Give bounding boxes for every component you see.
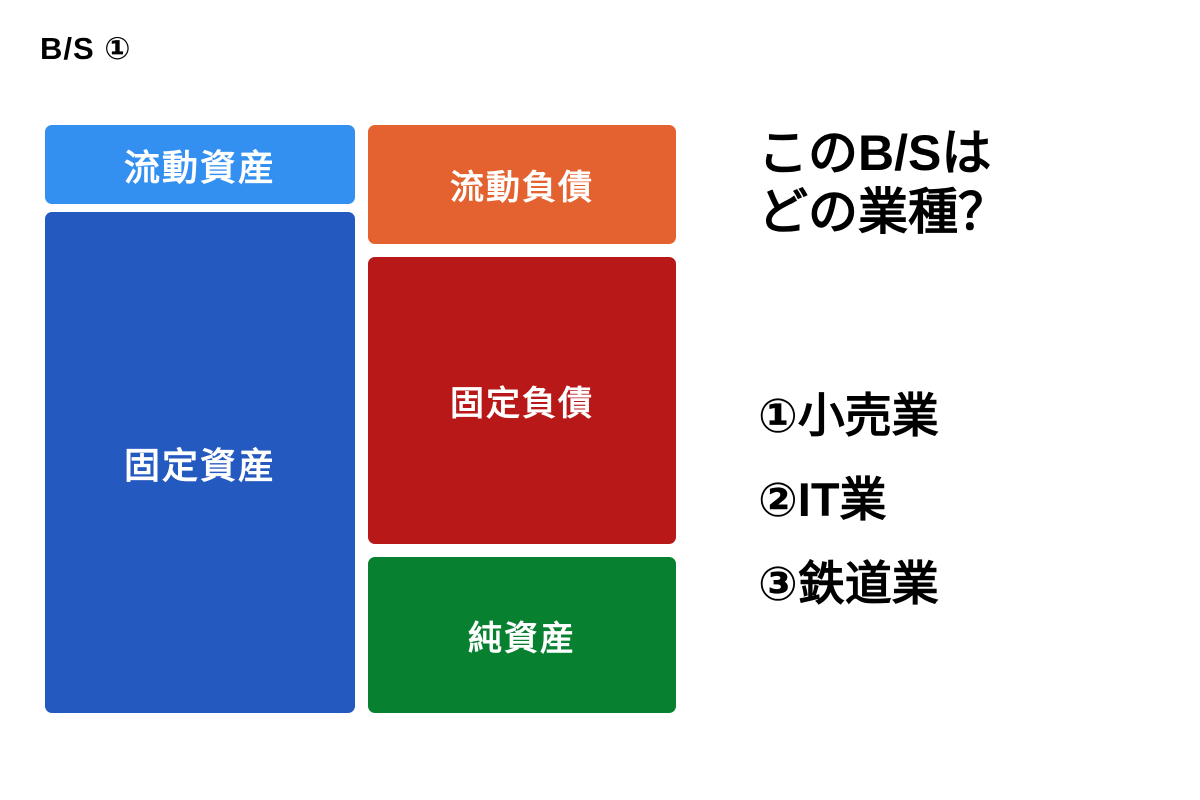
answer-option-3[interactable]: ③鉄道業 [758, 560, 1178, 607]
answer-option-2[interactable]: ②IT業 [758, 476, 1178, 523]
bs-block-current-liabilities-label: 流動負債 [450, 160, 594, 209]
answer-option-1[interactable]: ①小売業 [758, 392, 1178, 439]
bs-block-current-assets: 流動資産 [45, 125, 355, 204]
bs-block-net-assets: 純資産 [368, 557, 676, 713]
bs-block-current-assets-label: 流動資産 [124, 139, 276, 191]
slide-canvas: B/S ① 流動資産 固定資産 流動負債 固定負債 純資産 このB/Sは どの業… [0, 0, 1200, 800]
bs-block-current-liabilities: 流動負債 [368, 125, 676, 244]
question-block: このB/Sは どの業種？ [758, 124, 1178, 242]
question-line-2: どの業種？ [758, 183, 1178, 242]
bs-block-fixed-liabilities: 固定負債 [368, 257, 676, 544]
answer-options-list: ①小売業 ②IT業 ③鉄道業 [758, 392, 1178, 607]
bs-block-fixed-assets-label: 固定資産 [124, 437, 276, 489]
bs-block-fixed-assets: 固定資産 [45, 212, 355, 713]
bs-block-fixed-liabilities-label: 固定負債 [450, 376, 594, 425]
question-line-1: このB/Sは [758, 124, 1178, 183]
bs-block-net-assets-label: 純資産 [468, 611, 576, 660]
page-title: B/S ① [40, 30, 132, 67]
